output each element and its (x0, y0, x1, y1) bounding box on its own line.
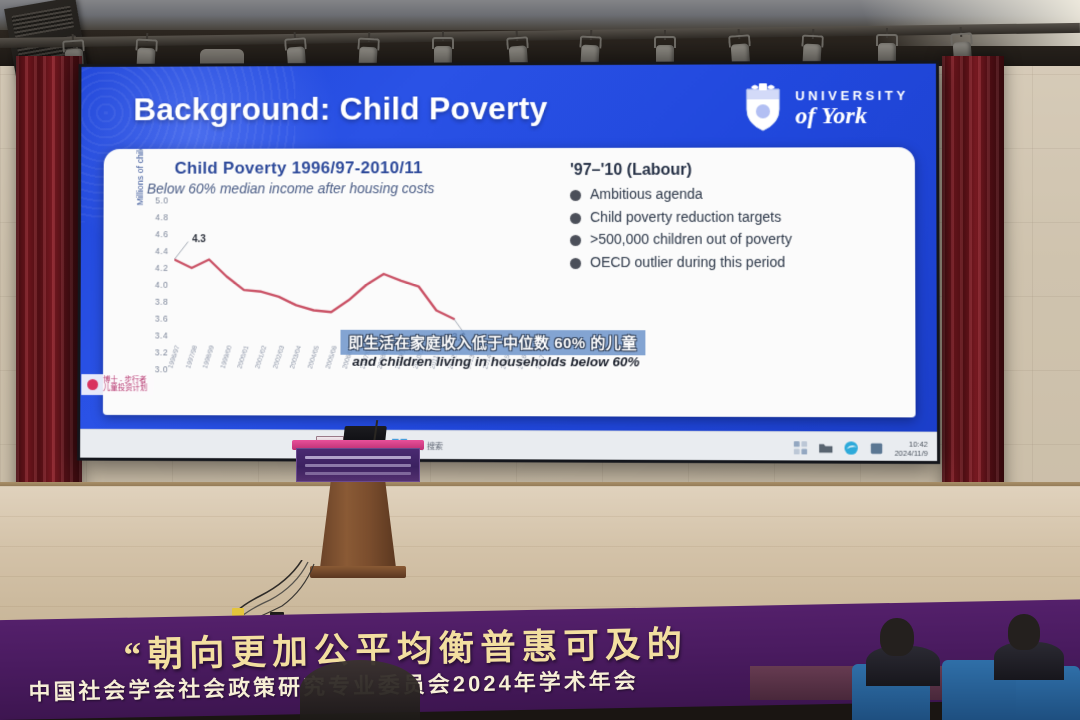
stage-curtain-right (942, 56, 1004, 538)
audience-seating-area (750, 610, 1080, 720)
podium-banner (296, 448, 420, 482)
attendee-head (1008, 614, 1040, 650)
stage-curtain-left (16, 56, 82, 542)
led-projection-screen: Background: Child Poverty UNIVERSITY of … (77, 61, 940, 464)
conference-stage-scene: Background: Child Poverty UNIVERSITY of … (0, 0, 1080, 720)
podium-column (320, 482, 396, 568)
foreground-attendee (300, 660, 420, 720)
screen-bezel (77, 61, 940, 464)
floor-cables (230, 560, 430, 620)
attendee-head (880, 618, 914, 656)
